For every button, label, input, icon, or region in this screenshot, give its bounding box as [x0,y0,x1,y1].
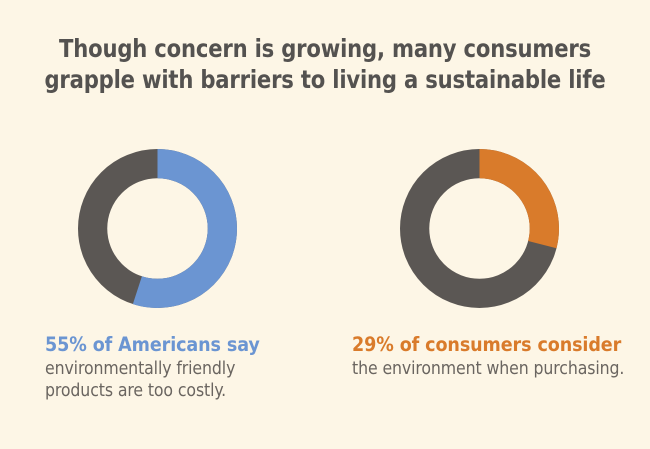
donut-svg-affordability [78,149,237,308]
infographic-canvas: Though concern is growing, many consumer… [0,0,650,449]
caption-body-affordability: environmentally friendly products are to… [45,358,325,402]
caption-body-line-2: products are too costly. [45,380,325,402]
caption-purchase-consideration: 29% of consumers consider the environmen… [352,332,648,380]
donut-chart-affordability [78,149,237,308]
caption-body-line-1: environmentally friendly [45,358,325,380]
caption-headline-purchase-consideration: 29% of consumers consider [352,332,648,358]
donut-svg-purchase-consideration [400,149,559,308]
caption-headline-affordability: 55% of Americans say [45,332,325,358]
donut-chart-purchase-consideration [400,149,559,308]
caption-body-purchase-consideration: the environment when purchasing. [352,358,648,380]
page-title: Though concern is growing, many consumer… [20,33,631,95]
caption-affordability: 55% of Americans say environmentally fri… [45,332,325,402]
donut-chart-group [0,149,650,309]
title-line-2: grapple with barriers to living a sustai… [20,64,631,95]
caption-body-line-1: the environment when purchasing. [352,358,648,380]
title-line-1: Though concern is growing, many consumer… [20,33,631,64]
